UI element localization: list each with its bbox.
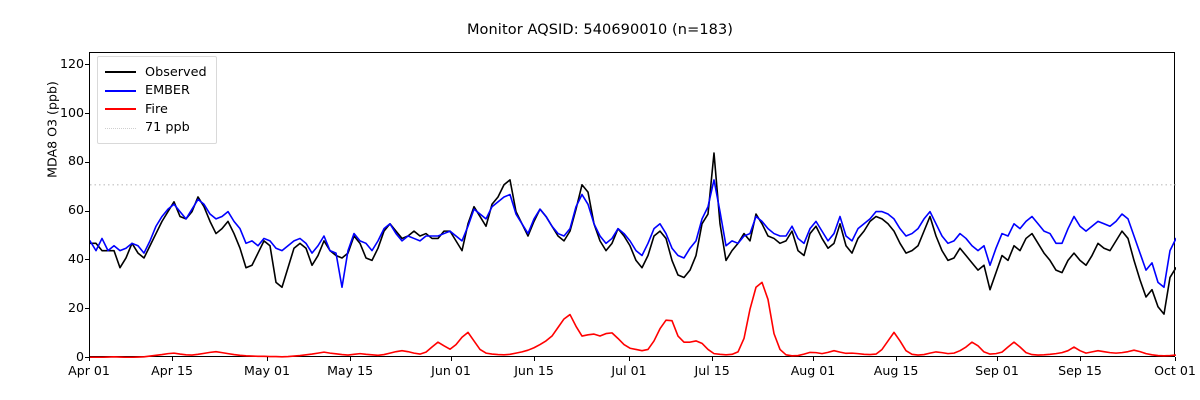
x-tick-mark [267,357,268,361]
legend-swatch-icon [105,85,136,97]
x-tick-mark [451,357,452,361]
x-tick-label: Apr 01 [68,363,110,378]
x-tick-label: Jul 01 [611,363,646,378]
x-tick-label: Jul 15 [694,363,729,378]
x-tick-mark [629,357,630,361]
y-tick-label: 20 [40,302,84,314]
chart-legend: ObservedEMBERFire71 ppb [97,56,217,144]
x-tick-label: Sep 15 [1058,363,1102,378]
y-tick-label: 40 [40,253,84,265]
x-tick-mark [1080,357,1081,361]
x-tick-label: Aug 15 [874,363,919,378]
series-line-fire [90,282,1176,357]
x-tick-mark [172,357,173,361]
x-tick-mark [813,357,814,361]
legend-item: Fire [105,100,207,119]
plot-svg [90,53,1176,358]
legend-item: EMBER [105,82,207,101]
y-tick-label: 120 [40,58,84,70]
x-tick-label: May 01 [244,363,290,378]
plot-area [89,52,1175,357]
x-tick-label: Oct 01 [1154,363,1196,378]
x-tick-mark [89,357,90,361]
x-tick-label: Sep 01 [975,363,1019,378]
x-tick-label: Jun 01 [431,363,471,378]
legend-label: Fire [145,102,168,117]
x-tick-mark [534,357,535,361]
y-tick-label: 0 [40,351,84,363]
x-tick-label: Apr 15 [151,363,193,378]
x-tick-label: Jun 15 [514,363,554,378]
legend-label: 71 ppb [145,120,190,135]
y-axis-ticks: 020406080100120 [34,52,84,357]
y-tick-label: 100 [40,107,84,119]
legend-swatch-icon [105,66,136,78]
x-tick-label: Aug 01 [791,363,836,378]
y-tick-label: 80 [40,155,84,167]
legend-swatch-icon [105,103,136,115]
legend-label: EMBER [145,83,190,98]
legend-item: 71 ppb [105,119,207,138]
x-tick-mark [896,357,897,361]
series-line-ember [90,180,1176,287]
x-tick-mark [997,357,998,361]
legend-item: Observed [105,63,207,82]
chart-figure: Monitor AQSID: 540690010 (n=183) MDA8 O3… [0,0,1200,400]
series-line-observed [90,153,1176,314]
x-tick-mark [350,357,351,361]
chart-title: Monitor AQSID: 540690010 (n=183) [0,22,1200,38]
legend-swatch-icon [105,122,136,134]
x-tick-mark [712,357,713,361]
x-tick-mark [1175,357,1176,361]
legend-label: Observed [145,65,207,80]
y-tick-label: 60 [40,204,84,216]
x-tick-label: May 15 [327,363,373,378]
